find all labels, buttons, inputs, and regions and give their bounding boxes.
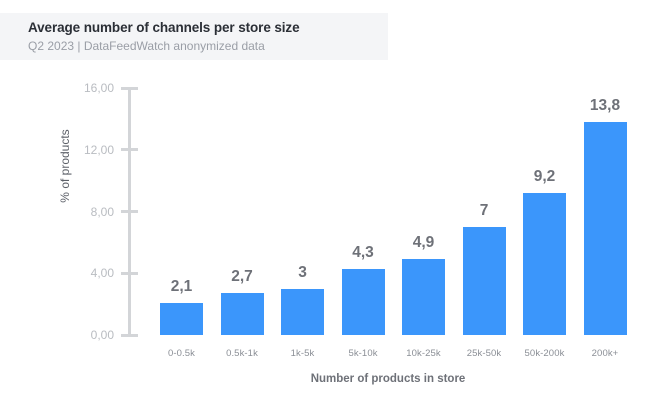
bar-value-label: 13,8 [570,97,641,115]
bar-value-label: 9,2 [509,168,580,186]
y-tick-label-wrap: 8,00 [50,206,114,218]
bar-rect[interactable] [523,193,566,335]
y-tick-label-wrap: 12,00 [50,144,114,156]
y-tick-mark [121,272,138,275]
bar-value-label: 3 [267,264,338,282]
bar-rect[interactable] [584,122,627,335]
y-tick-label: 16,00 [60,82,114,94]
y-tick-label: 8,00 [60,206,114,218]
y-tick-label: 4,00 [60,267,114,279]
bar-rect[interactable] [342,269,385,335]
y-tick-label-wrap: 4,00 [50,267,114,279]
bar-value-label: 7 [449,202,520,220]
y-tick-label-wrap: 16,00 [50,82,114,94]
y-tick-mark [121,148,138,151]
bar-rect[interactable] [221,293,264,335]
bar-rect[interactable] [402,259,445,335]
bar-rect[interactable] [160,303,203,335]
y-tick-mark [121,210,138,213]
bar-item[interactable]: 4,35k-10k [342,0,385,409]
bar-value-label: 4,9 [388,234,459,252]
bar-rect[interactable] [463,227,506,335]
y-tick-label: 0,00 [60,329,114,341]
bar-chart: % of products 0,004,008,0012,0016,00 2,1… [0,0,657,409]
bar-item[interactable]: 9,250k-200k [523,0,566,409]
y-tick-label-wrap: 0,00 [50,329,114,341]
bar-item[interactable]: 31k-5k [281,0,324,409]
y-tick-mark [121,334,138,337]
bar-item[interactable]: 725k-50k [463,0,506,409]
bar-rect[interactable] [281,289,324,335]
bar-item[interactable]: 13,8200k+ [584,0,627,409]
y-tick-mark [121,87,138,90]
bar-item[interactable]: 4,910k-25k [402,0,445,409]
bar-item[interactable]: 2,10-0.5k [160,0,203,409]
y-tick-label: 12,00 [60,144,114,156]
x-tick-label: 200k+ [568,348,643,359]
bar-item[interactable]: 2,70.5k-1k [221,0,264,409]
x-axis-title: Number of products in store [128,373,648,385]
